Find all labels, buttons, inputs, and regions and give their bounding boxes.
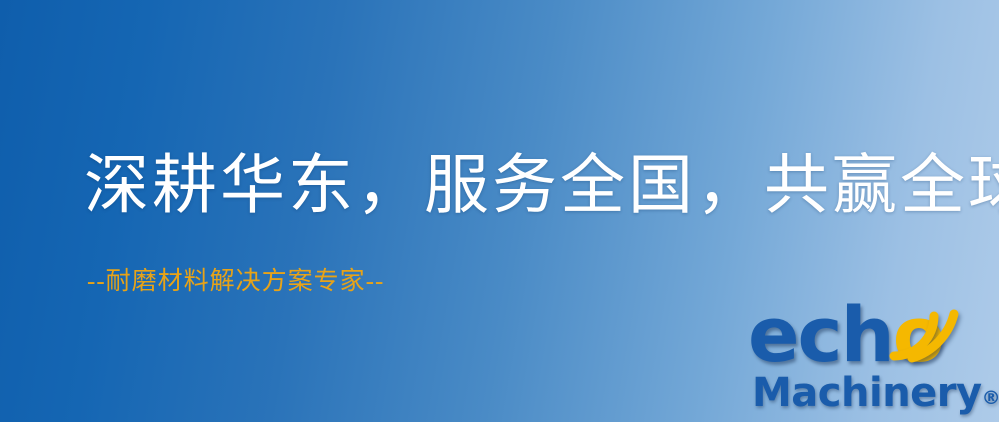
registered-trademark-icon: ®: [982, 387, 999, 409]
banner-subtitle: --耐磨材料解决方案专家--: [87, 266, 384, 298]
banner-headline: 深耕华东，服务全国，共赢全球: [84, 144, 999, 228]
logo-tagline-text: Machinery: [752, 370, 982, 416]
echo-signal-waves-icon: [888, 294, 960, 366]
logo-tagline: Machinery®: [752, 368, 999, 418]
promo-banner: 深耕华东，服务全国，共赢全球 --耐磨材料解决方案专家-- echo Machi…: [0, 0, 999, 422]
logo-wordmark-primary: ech: [748, 290, 893, 379]
company-logo[interactable]: echo Machinery®: [748, 296, 999, 422]
